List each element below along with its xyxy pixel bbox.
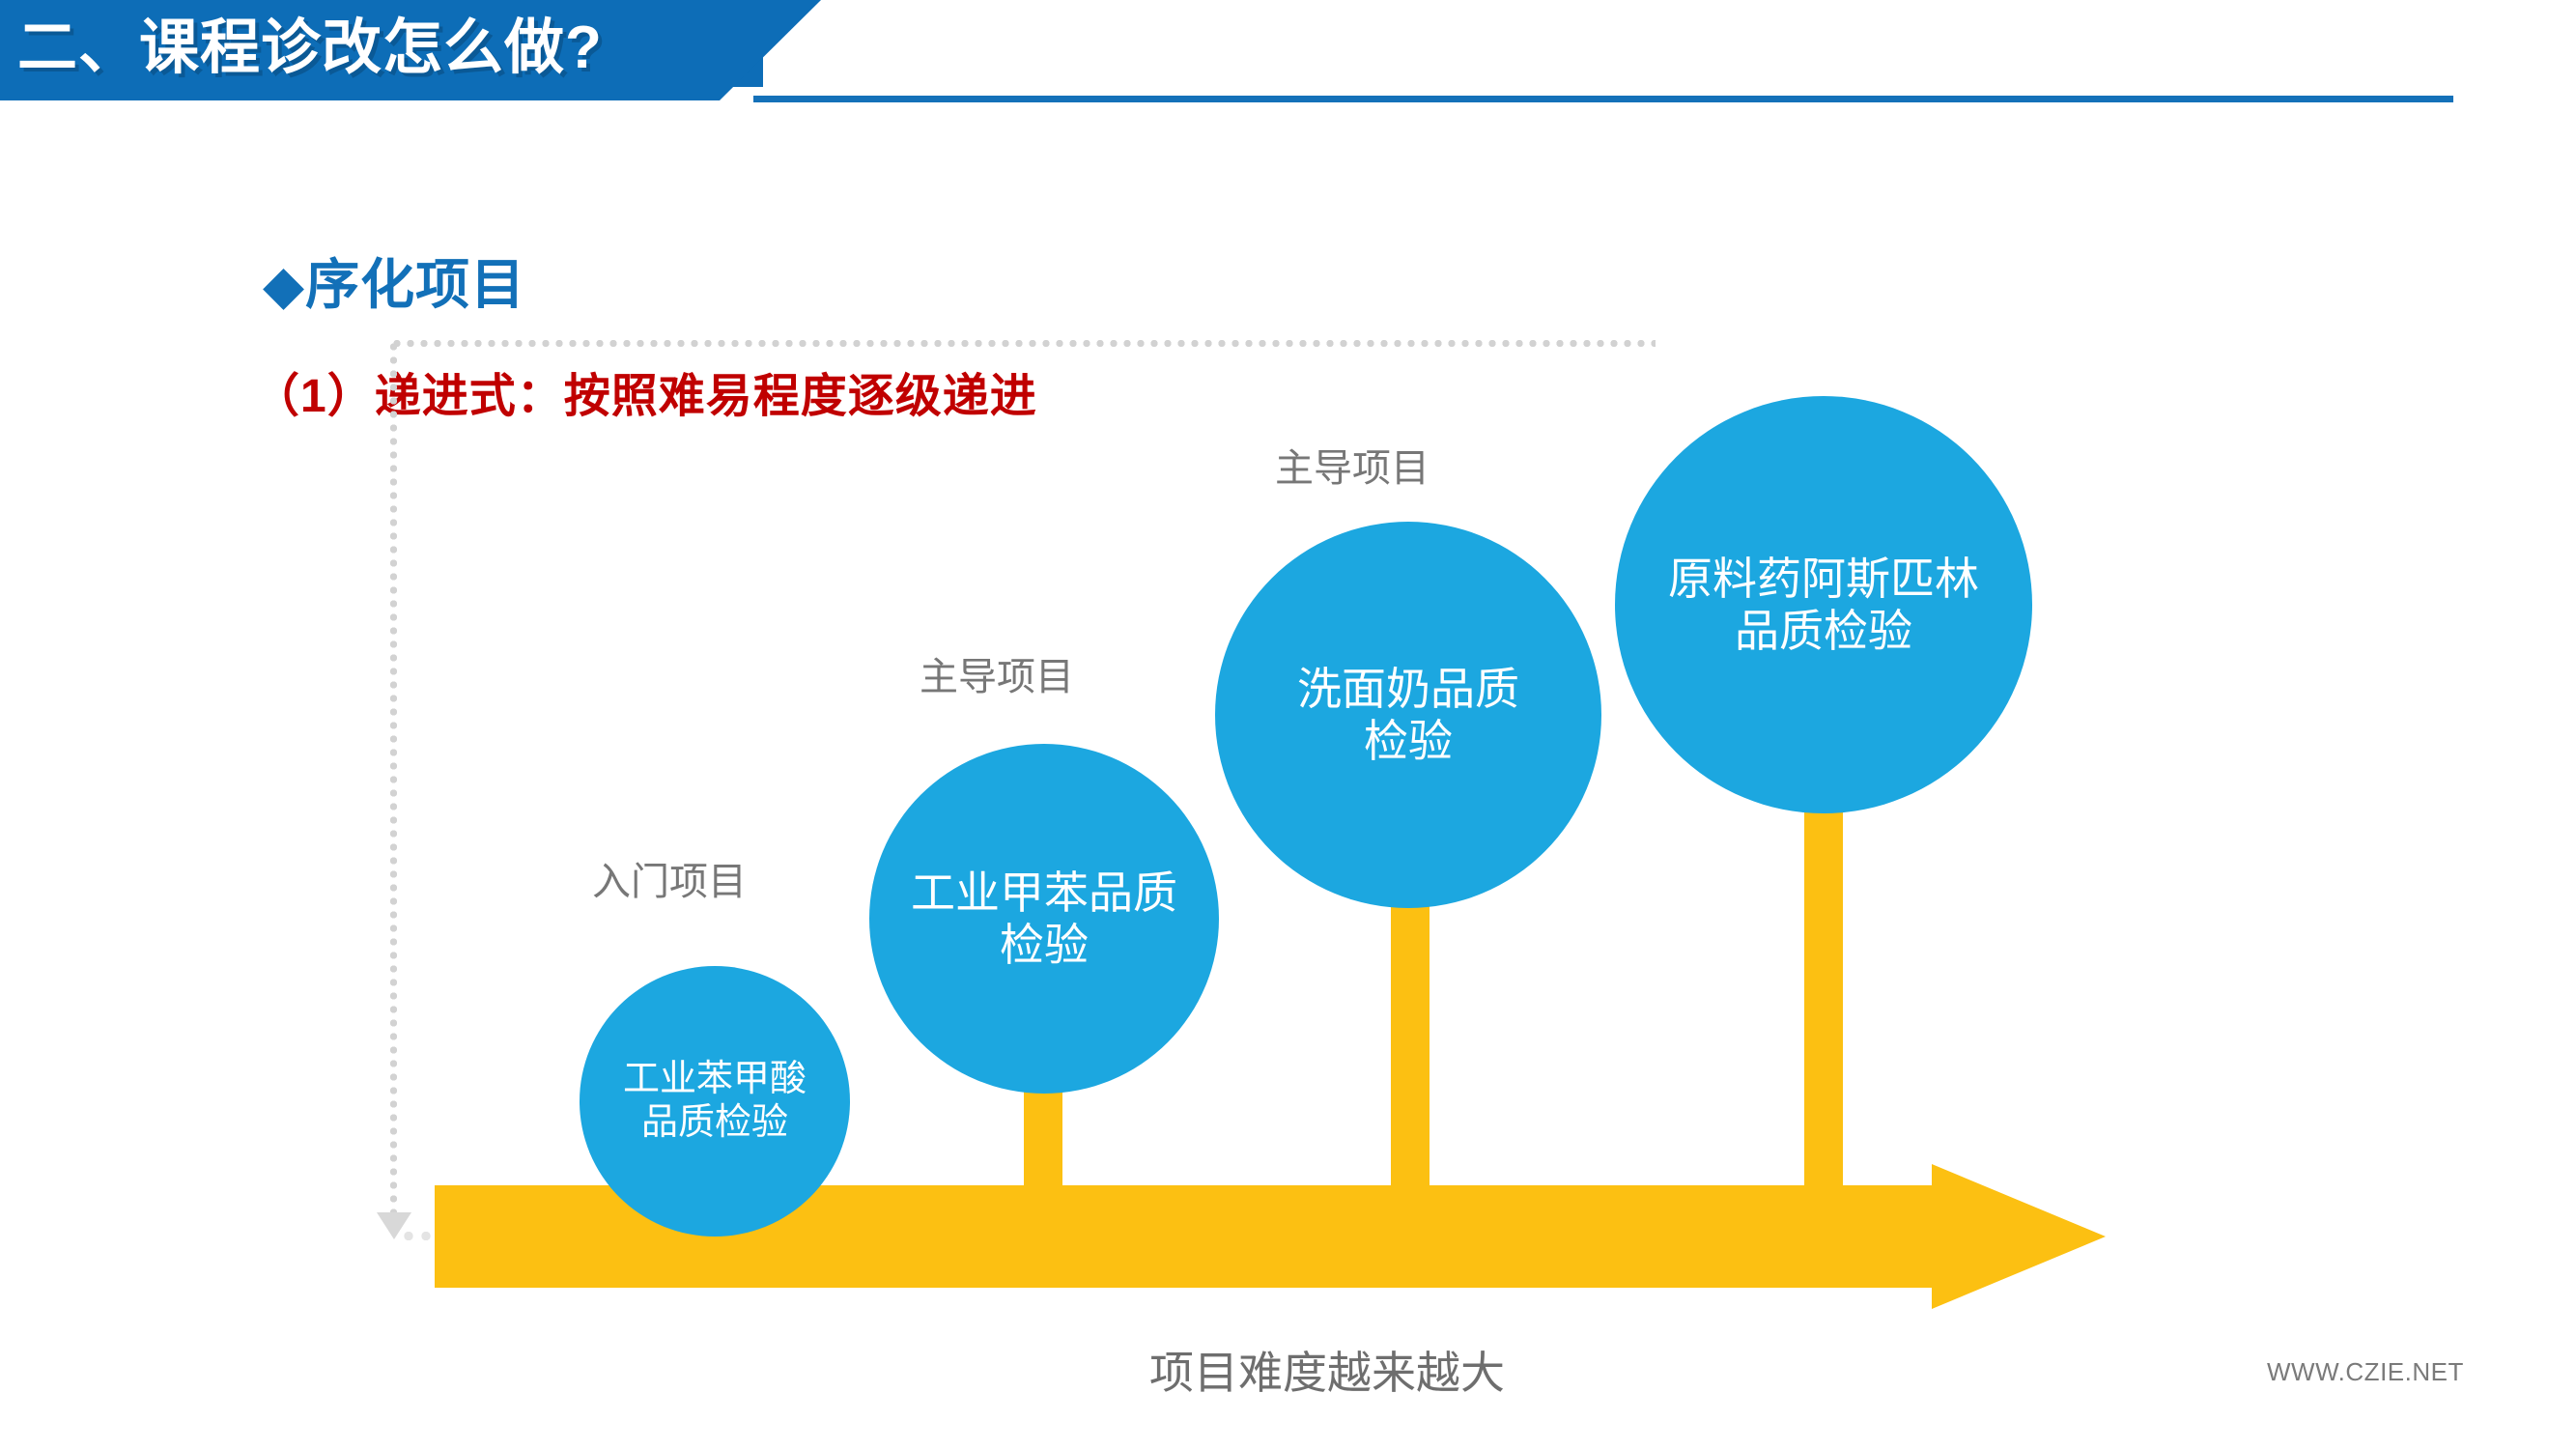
step-3-circle[interactable]: 洗面奶品质 检验: [1215, 522, 1601, 908]
step-1-label: 工业苯甲酸 品质检验: [613, 1058, 816, 1145]
step-1-tag: 入门项目: [592, 850, 747, 906]
guide-path-top-dotted-line: [390, 340, 1656, 347]
watermark: WWW.CZIE.NET: [2267, 1357, 2464, 1387]
step-2-circle[interactable]: 工业甲苯品质 检验: [869, 744, 1219, 1094]
step-4-label: 原料药阿斯匹林 品质检验: [1658, 553, 1989, 658]
header-rule: [753, 96, 2453, 102]
section-heading: ◆序化项目: [263, 242, 525, 320]
step-4-circle[interactable]: 原料药阿斯匹林 品质检验: [1615, 396, 2032, 813]
step-1-circle[interactable]: 工业苯甲酸 品质检验: [580, 966, 850, 1237]
page-title: 二、课程诊改怎么做?: [17, 4, 751, 93]
step-3-label: 洗面奶品质 检验: [1288, 663, 1529, 768]
step-3-tag: 主导项目: [1275, 437, 1430, 493]
section-subheading: （1）递进式：按照难易程度逐级递进: [253, 357, 1037, 425]
difficulty-axis-caption: 项目难度越来越大: [1149, 1338, 1505, 1402]
guide-path-left-dotted-line: [390, 340, 397, 1219]
step-2-tag: 主导项目: [920, 645, 1074, 701]
step-2-label: 工业甲苯品质 检验: [901, 867, 1187, 972]
